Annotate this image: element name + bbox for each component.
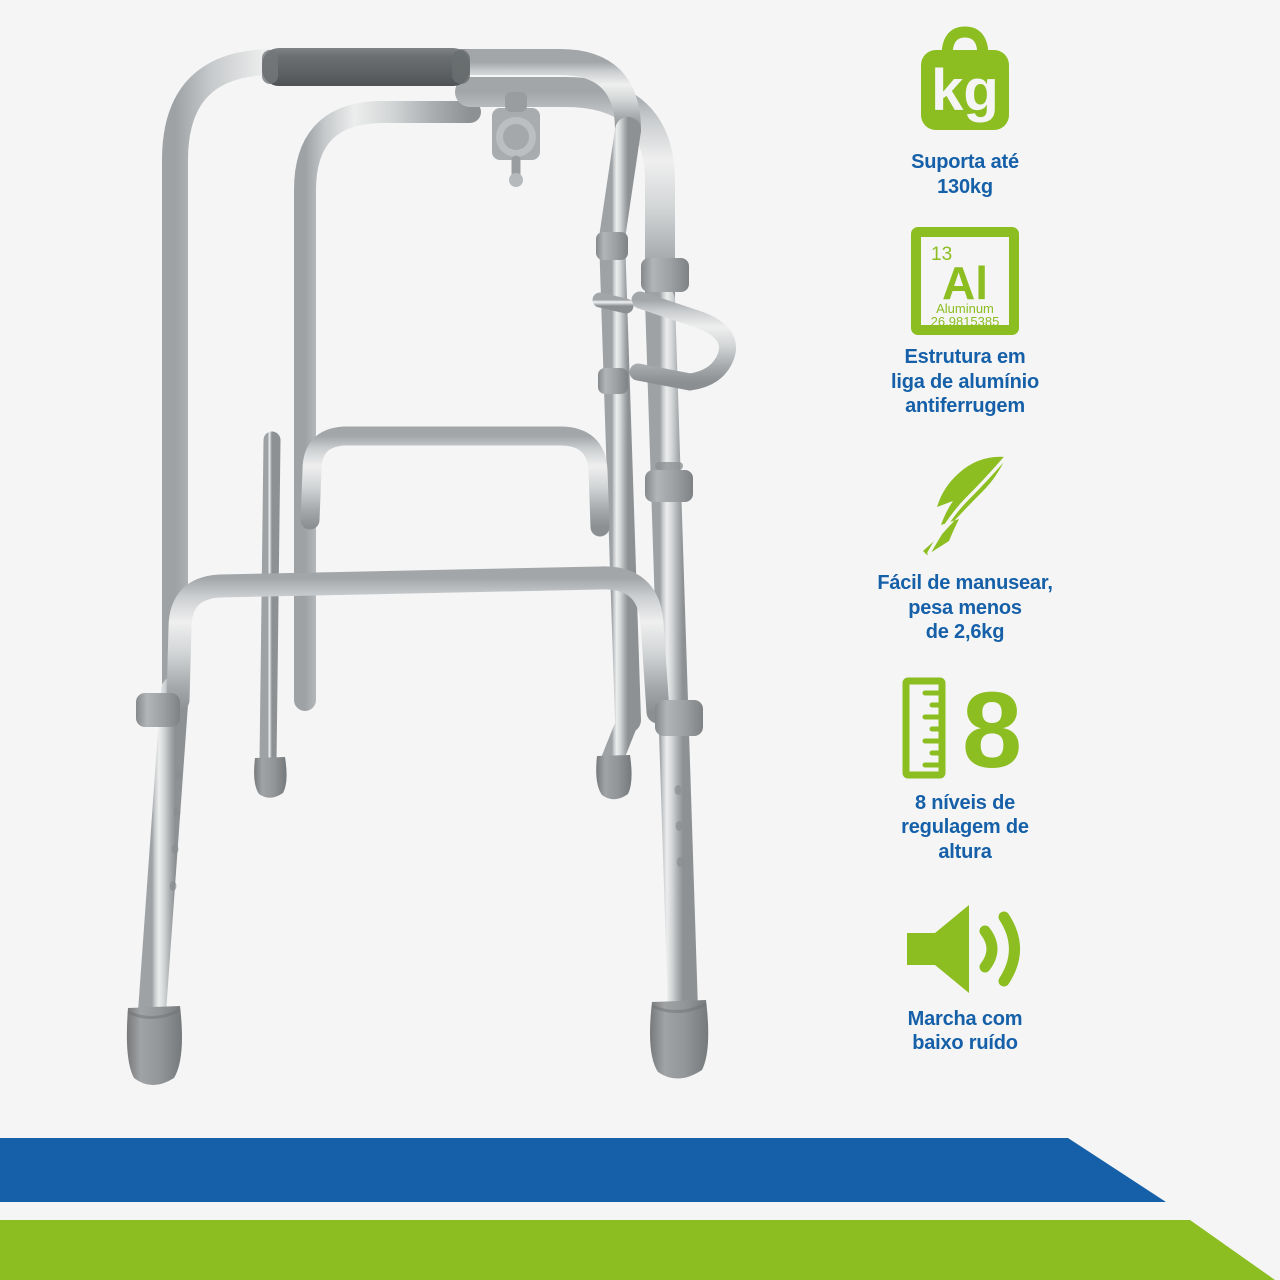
feature-height-levels: 8 8 níveis de regulagem de altura — [830, 675, 1100, 865]
feature-aluminum-alloy: 13 Al Aluminum 26.9815385 Estrutura em l… — [830, 227, 1100, 419]
feature-list: kg Suporta até 130kg 13 Al Aluminum 26.9… — [830, 22, 1100, 1122]
rubber-foot-tip — [254, 757, 287, 798]
banner-blue-bar — [0, 1138, 1166, 1202]
rubber-foot-tip — [127, 1006, 182, 1085]
banner-green-bar — [0, 1220, 1275, 1280]
feather-icon — [909, 449, 1021, 561]
ruler-eight-icon: 8 — [900, 675, 1030, 781]
feature-height-levels-text: 8 níveis de regulagem de altura — [901, 791, 1029, 865]
feature-low-noise-text: Marcha com baixo ruído — [908, 1007, 1023, 1056]
feature-lightweight: Fácil de manusear, pesa menos de 2,6kg — [830, 449, 1100, 645]
tube-collar — [596, 232, 628, 260]
rubber-foot-tip — [596, 755, 631, 799]
feature-aluminum-alloy-text: Estrutura em liga de alumínio antiferrug… — [891, 345, 1039, 419]
kg-bag-icon: kg — [907, 22, 1023, 140]
feature-lightweight-text: Fácil de manusear, pesa menos de 2,6kg — [877, 571, 1052, 645]
tube-collar — [641, 258, 689, 292]
feature-weight-capacity: kg Suporta até 130kg — [830, 22, 1100, 199]
feature-weight-capacity-text: Suporta até 130kg — [911, 150, 1019, 199]
feature-low-noise: Marcha com baixo ruído — [830, 901, 1100, 1056]
eight-icon-label: 8 — [962, 675, 1022, 781]
product-image-area — [0, 0, 830, 1130]
rubber-foot-tip — [650, 1000, 708, 1079]
element-atomic-mass: 26.9815385 — [931, 314, 1000, 329]
folding-walker-illustration — [0, 0, 830, 1130]
page-canvas: kg Suporta até 130kg 13 Al Aluminum 26.9… — [0, 0, 1280, 1280]
kg-icon-label: kg — [931, 58, 999, 123]
bottom-banner — [0, 1120, 1280, 1280]
tube-collar — [598, 368, 628, 394]
speaker-icon — [901, 901, 1029, 997]
handle-grip — [262, 48, 470, 86]
aluminum-element-icon: 13 Al Aluminum 26.9815385 — [911, 227, 1019, 335]
leg-adjust-collar — [136, 693, 180, 727]
tube-collar — [645, 470, 693, 502]
leg-adjust-collar — [655, 700, 703, 736]
